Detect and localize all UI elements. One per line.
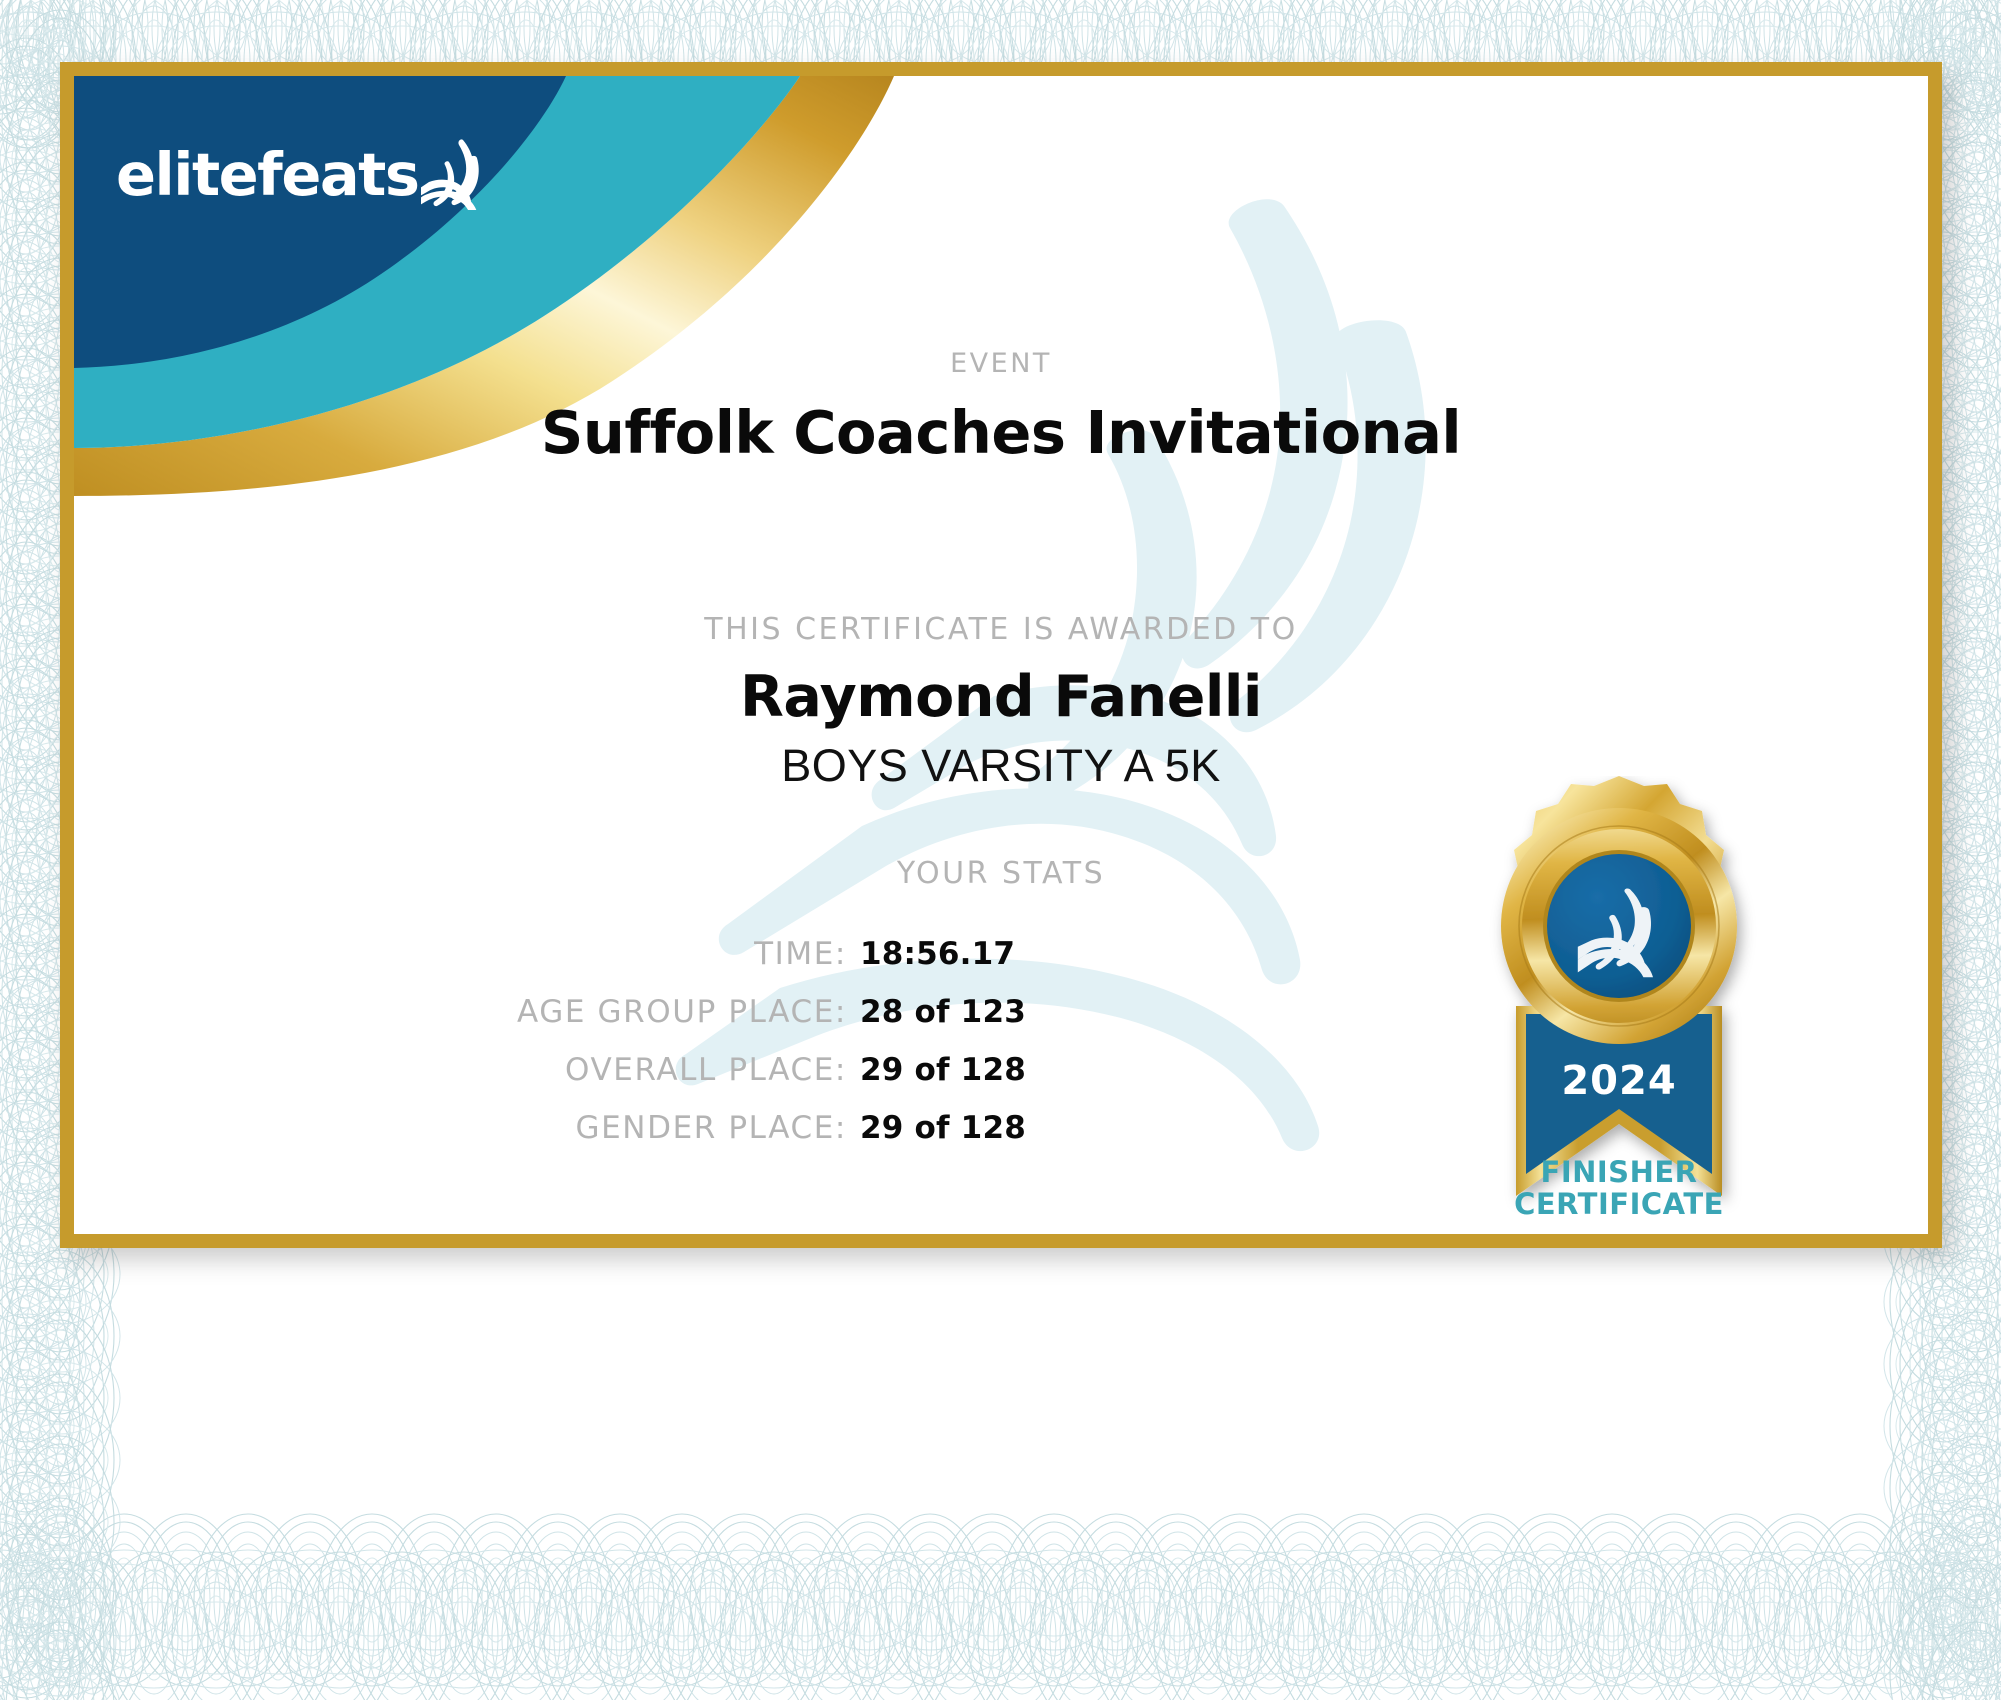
certificate-gold-frame: elitefeats EVENT Suffolk Coaches Invitat… <box>60 62 1942 1248</box>
stat-value-age-group-place: 28 of 123 <box>860 994 1026 1030</box>
certificate-content: EVENT Suffolk Coaches Invitational THIS … <box>74 76 1928 1234</box>
logo-wordmark: elitefeats <box>116 145 419 204</box>
stat-label-age-group-place: AGE GROUP PLACE: <box>74 994 847 1030</box>
event-name: Suffolk Coaches Invitational <box>74 398 1928 467</box>
stat-value-overall-place: 29 of 128 <box>860 1052 1026 1088</box>
stat-value-gender-place: 29 of 128 <box>860 1110 1026 1146</box>
certificate-page: elitefeats EVENT Suffolk Coaches Invitat… <box>0 0 2001 1700</box>
badge-caption-line1: FINISHER <box>1454 1156 1784 1188</box>
badge-caption: FINISHER CERTIFICATE <box>1454 1156 1784 1221</box>
recipient-name: Raymond Fanelli <box>74 664 1928 730</box>
winged-foot-icon <box>421 138 483 210</box>
stat-label-overall-place: OVERALL PLACE: <box>74 1052 847 1088</box>
event-label: EVENT <box>74 348 1928 379</box>
badge-year: 2024 <box>1561 1058 1676 1104</box>
stats-list: TIME: 18:56.17 AGE GROUP PLACE: 28 of 12… <box>74 936 1026 1146</box>
badge-caption-line2: CERTIFICATE <box>1454 1188 1784 1220</box>
stat-label-time: TIME: <box>74 936 847 972</box>
stat-label-gender-place: GENDER PLACE: <box>74 1110 847 1146</box>
stat-value-time: 18:56.17 <box>860 936 1026 972</box>
elitefeats-logo: elitefeats <box>116 138 483 204</box>
awarded-to-label: THIS CERTIFICATE IS AWARDED TO <box>74 612 1928 647</box>
